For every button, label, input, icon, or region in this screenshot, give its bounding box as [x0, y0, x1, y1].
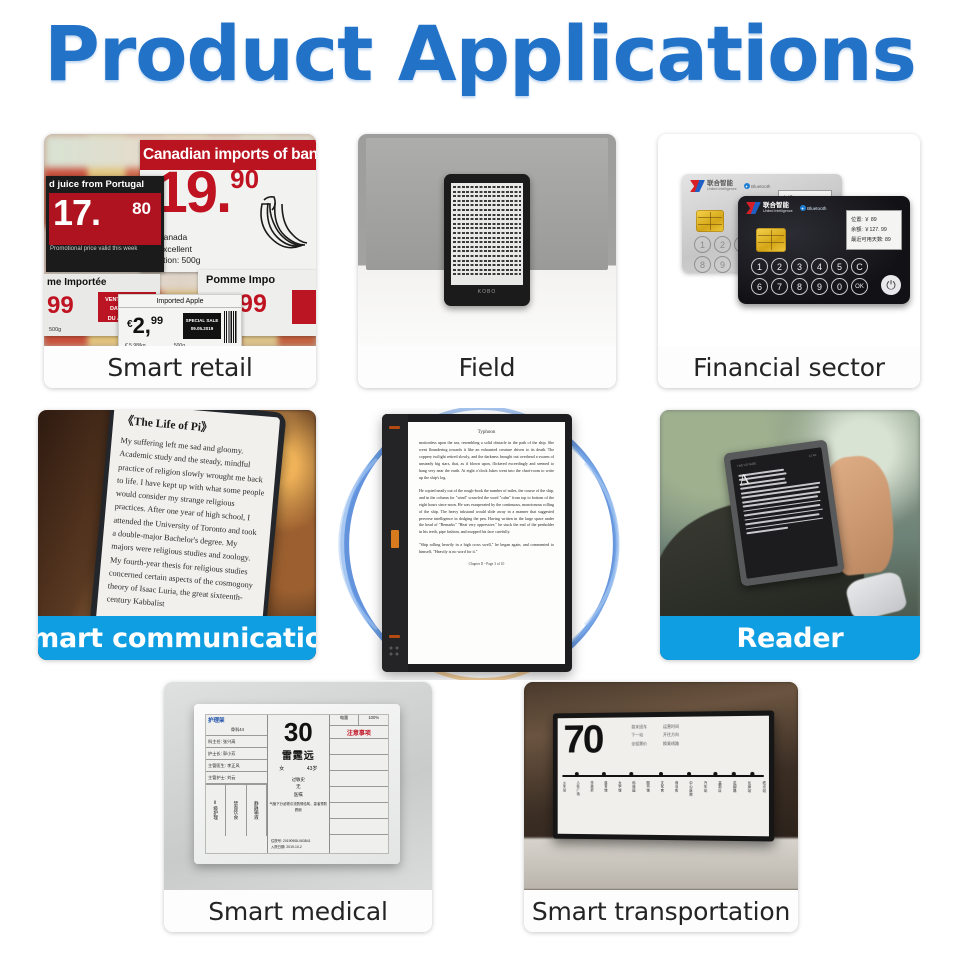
juice-tag-headline: d juice from Portugal	[46, 176, 164, 192]
card-field[interactable]: KOBO Field	[358, 134, 616, 388]
brand-logo-black: 联合智能 United Intelligence ✦ Bluetooth	[746, 202, 827, 214]
card-reader[interactable]: THE VOYAGE 12:40 A Reader	[660, 410, 920, 660]
card-center-tablet[interactable]: Typhoon motionless upon the sea, resembl…	[330, 408, 630, 680]
medical-right-column: 电量 100% 注意事项	[330, 715, 388, 853]
station-name: 汽车站	[702, 781, 706, 796]
sim-chip-icon-black	[756, 228, 786, 252]
banana-price-dec: 90	[230, 164, 259, 194]
med-field-director: 科主任: 张兴高	[206, 736, 267, 748]
station-name: 终点站	[761, 781, 765, 797]
med-label-orders: 医嘱	[268, 791, 329, 798]
key-9[interactable]: 9	[811, 278, 828, 295]
transit-screen: 70 首末班车 下一站 全程票价 运营时间 开往方向 换乘线路	[558, 716, 769, 837]
key-8[interactable]: 8	[791, 278, 808, 295]
page-paragraph-2: He copied neatly out of the rough-book t…	[419, 488, 554, 537]
black-display-line-1: 位置: ￥ 89	[851, 216, 897, 223]
ereader-device-field: KOBO	[444, 174, 530, 306]
card-smart-communication[interactable]: 《The Life of Pi》 My suffering left me sa…	[38, 410, 316, 660]
brand-logo-silver: 联合智能 United Intelligence ✦ Bluetooth	[690, 180, 771, 192]
phone-device: 《The Life of Pi》 My suffering left me sa…	[89, 410, 286, 642]
l7-logo-icon-black	[746, 202, 761, 214]
transit-info-1-3: 全程票价	[631, 740, 647, 748]
pomme-left-price: 99	[47, 294, 74, 318]
key-clear[interactable]: C	[851, 258, 868, 275]
station-name: 花园路	[732, 781, 736, 796]
transit-info-2-2: 开往方向	[663, 731, 679, 740]
page-paragraph-3: "Ship rolling heavily in a high cross sw…	[419, 542, 554, 556]
card-smart-transportation[interactable]: 70 首末班车 下一站 全程票价 运营时间 开往方向 换乘线路	[524, 682, 798, 932]
key-4[interactable]: 4	[811, 258, 828, 275]
key-1[interactable]: 1	[751, 258, 768, 275]
brand-name-silver: 联合智能 United Intelligence	[707, 180, 737, 191]
station-name: 图书馆	[645, 781, 649, 796]
bed-number: 30	[268, 719, 329, 745]
station-name: 中心医院	[688, 781, 692, 796]
key-5[interactable]: 5	[831, 258, 848, 275]
reader-status-time: 12:40	[809, 453, 817, 458]
price-tag-juice: d juice from Portugal 17. 80 Promotional…	[46, 176, 164, 272]
ereader-screen-field	[451, 183, 523, 285]
brand-sub-black: United Intelligence	[763, 210, 793, 214]
transit-info-blocks: 首末班车 下一站 全程票价 运营时间 开往方向 换乘线路	[631, 722, 762, 748]
keypad-black[interactable]: 1 2 3 4 5 C 6 7 8 9 0 OK	[751, 258, 868, 295]
transit-display-monitor: 70 首末班车 下一站 全程票价 运营时间 开往方向 换乘线路	[553, 710, 774, 841]
transit-info-col-1: 首末班车 下一站 全程票价	[631, 723, 647, 748]
station-name: 科技园	[631, 781, 635, 796]
desk-surface	[524, 838, 798, 890]
book-body-text: My suffering left me sad and gloomy. Aca…	[106, 434, 268, 619]
battery-label: 电量	[330, 715, 360, 725]
station-name: 体育馆	[603, 781, 607, 796]
juice-tag-price-block: 17. 80	[49, 193, 161, 245]
sim-chip-icon-silver	[696, 210, 724, 232]
medical-left-column: 骨科44 科主任: 张兴高 护士长: 郭小芳 主管医生: 李正风 主管护士: 刘…	[206, 715, 268, 853]
station-name: 长途站	[746, 781, 750, 796]
med-tab-care-level: Ⅱ级护理	[206, 785, 226, 836]
station-name: 文化宫	[659, 781, 663, 796]
bluetooth-icon-black: ✦	[800, 205, 806, 211]
bluetooth-badge-silver: ✦ Bluetooth	[744, 183, 771, 189]
card-label-reader: Reader	[660, 616, 920, 660]
card-label-smart-transportation: Smart transportation	[524, 890, 798, 932]
juice-price-int: 17.	[53, 195, 100, 231]
med-label-allergy-value: 无	[268, 783, 329, 790]
apple-esl-int: 2,	[133, 313, 151, 338]
juice-price-dec: 80	[132, 199, 151, 219]
key-7[interactable]: 7	[771, 278, 788, 295]
banana-icon	[250, 194, 310, 250]
apple-esl-price: €2,99	[127, 315, 163, 337]
route-number: 70	[563, 720, 602, 760]
tablet-device: Typhoon motionless upon the sea, resembl…	[382, 414, 572, 672]
tablet-accent-bottom	[389, 635, 400, 638]
station-name-list: 火车站 人民广场 市政府 体育馆 大学城 科技园 图书馆 文化宫 商业街 中心医…	[561, 781, 764, 797]
ereader-brand-label: KOBO	[451, 289, 523, 295]
key-silver-8[interactable]: 8	[694, 256, 711, 273]
key-silver-2[interactable]: 2	[714, 236, 731, 253]
pomme-right-title: Pomme Impo	[198, 270, 316, 286]
med-admission-date: 入院日期: 2019-10-2	[271, 845, 311, 851]
med-field-nurse: 主管护士: 刘云	[206, 772, 267, 784]
transit-info-2-3: 换乘线路	[663, 740, 679, 749]
transit-info-2-1: 运营时间	[663, 723, 679, 732]
page-title: Product Applications	[0, 16, 960, 92]
key-2[interactable]: 2	[771, 258, 788, 275]
ereader-device-reader: THE VOYAGE 12:40 A	[723, 439, 845, 586]
medical-footer: 住院号: 20190908-063841 入院日期: 2019-10-2	[271, 839, 311, 851]
bluetooth-label-black: Bluetooth	[807, 206, 826, 211]
tablet-side-bar	[382, 414, 408, 672]
smart-card-black: 联合智能 United Intelligence ✦ Bluetooth 位置:…	[738, 196, 910, 304]
card-media-smart-retail: Canadian imports of banan $19.90 n: Cana…	[44, 134, 316, 346]
transit-info-1-1: 首末班车	[631, 723, 647, 732]
med-field-dept: 骨科44	[206, 724, 267, 736]
esl-tag-imported-apple: Imported Apple €2,99 SPECIAL SALE 09.05.…	[118, 294, 242, 346]
battery-row: 电量 100%	[330, 715, 388, 726]
bedside-card-frame: 护理架 骨科44 科主任: 张兴高 护士长: 郭小芳 主管医生: 李正风 主管护…	[194, 704, 400, 864]
bluetooth-icon-silver: ✦	[744, 183, 750, 189]
apple-esl-title: Imported Apple	[119, 295, 241, 308]
pomme-right-badge	[292, 290, 316, 324]
power-icon[interactable]: ⏻	[881, 275, 901, 295]
card-label-smart-retail: Smart retail	[44, 346, 316, 388]
transit-info-col-2: 运营时间 开往方向 换乘线路	[663, 723, 679, 748]
price-tag-banana: Canadian imports of banan $19.90 n: Cana…	[140, 140, 316, 272]
notice-title: 注意事项	[330, 726, 388, 739]
battery-value: 100%	[359, 715, 388, 725]
apple-esl-badge: SPECIAL SALE 09.05.2019	[183, 313, 221, 339]
chapter-header: Typhoon	[419, 430, 554, 435]
card-media-financial: 联合智能 United Intelligence ✦ Bluetooth 余额:…	[658, 134, 920, 346]
med-note: 气管下分泌物引流酌情给氧，患者预防跌倒	[268, 802, 329, 814]
med-tab-diet: 禁食饮食	[226, 785, 246, 836]
juice-tag-footer: Promotional price valid this week	[46, 246, 164, 252]
medical-eink-screen: 护理架 骨科44 科主任: 张兴高 护士长: 郭小芳 主管医生: 李正风 主管护…	[205, 714, 389, 854]
pomme-left-title: me Importée	[44, 274, 160, 288]
reader-status-title: THE VOYAGE	[737, 461, 757, 468]
med-tab-iv: 静脉输液	[247, 785, 267, 836]
barcode-icon	[224, 311, 237, 343]
transit-info-1-2: 下一站	[631, 732, 647, 740]
apple-esl-dec: 99	[151, 315, 163, 327]
medical-vertical-tabs: Ⅱ级护理 禁食饮食 静脉输液	[206, 784, 267, 836]
patient-sex: 女	[279, 765, 284, 772]
medical-header: 护理架	[208, 716, 225, 724]
patient-age: 43岁	[307, 765, 318, 772]
med-label-allergy: 过敏史	[268, 776, 329, 783]
black-display-line-3: 最近可用天数: 89	[851, 236, 897, 243]
card-smart-retail[interactable]: Canadian imports of banan $19.90 n: Cana…	[44, 134, 316, 388]
station-name: 人民广场	[575, 781, 578, 796]
bluetooth-badge-black: ✦ Bluetooth	[800, 205, 827, 211]
station-name: 市政府	[589, 781, 593, 796]
bluetooth-label-silver: Bluetooth	[751, 184, 770, 189]
card-label-field: Field	[358, 346, 616, 388]
card-media-field: KOBO	[358, 134, 616, 346]
tablet-screen: Typhoon motionless upon the sea, resembl…	[408, 422, 565, 664]
key-6[interactable]: 6	[751, 278, 768, 295]
station-name: 商业街	[673, 781, 677, 796]
reader-status-bar: THE VOYAGE 12:40	[737, 453, 817, 468]
phone-screen: 《The Life of Pi》 My suffering left me sa…	[96, 410, 280, 635]
speaker-grill-icon	[388, 645, 401, 658]
key-ok[interactable]: OK	[851, 278, 868, 295]
tablet-accent-mid	[391, 530, 399, 548]
ereader-screen-dark: THE VOYAGE 12:40 A	[730, 447, 838, 579]
brand-name-black: 联合智能 United Intelligence	[763, 202, 793, 213]
card-financial-sector[interactable]: 联合智能 United Intelligence ✦ Bluetooth 余额:…	[658, 134, 920, 388]
l7-logo-icon	[690, 180, 705, 192]
pomme-left-weight: 500g	[49, 327, 61, 333]
card-media-smart-transportation: 70 首末班车 下一站 全程票价 运营时间 开往方向 换乘线路	[524, 682, 798, 890]
patient-demographics: 女 43岁	[268, 765, 329, 772]
medical-center-column: 30 雷霆远 女 43岁 过敏史 无 医嘱 气管下分泌物引流酌情给氧，患者预防跌…	[268, 715, 330, 853]
med-field-headnurse: 护士长: 郭小芳	[206, 748, 267, 760]
card-label-smart-medical: Smart medical	[164, 890, 432, 932]
card-smart-medical[interactable]: 护理架 骨科44 科主任: 张兴高 护士长: 郭小芳 主管医生: 李正风 主管护…	[164, 682, 432, 932]
med-field-doctor: 主管医生: 李正风	[206, 760, 267, 772]
card-label-smart-communication: Smart communication	[38, 616, 316, 660]
key-silver-9[interactable]: 9	[714, 256, 731, 273]
key-0[interactable]: 0	[831, 278, 848, 295]
brand-sub-silver: United Intelligence	[707, 188, 737, 192]
medical-mid-labels: 过敏史 无 医嘱	[268, 776, 329, 798]
page-footer: Chapter II - Page 3 of 10	[419, 562, 554, 566]
station-name: 高新区	[717, 781, 721, 796]
black-display-line-2: 余额: ￥127. 99	[851, 226, 897, 233]
station-name: 火车站	[561, 781, 564, 796]
page-paragraph-1: motionless upon the sea, resembling a so…	[419, 440, 554, 482]
drop-cap: A	[738, 473, 751, 488]
station-name: 大学城	[617, 781, 621, 796]
patient-name: 雷霆远	[268, 747, 329, 762]
tablet-accent-top	[389, 426, 400, 429]
card-media-smart-medical: 护理架 骨科44 科主任: 张兴高 护士长: 郭小芳 主管医生: 李正风 主管护…	[164, 682, 432, 890]
key-3[interactable]: 3	[791, 258, 808, 275]
key-silver-1[interactable]: 1	[694, 236, 711, 253]
eink-display-black: 位置: ￥ 89 余额: ￥127. 99 最近可用天数: 89	[846, 210, 902, 250]
banana-price-int: 19.	[155, 160, 230, 225]
card-label-financial-sector: Financial sector	[658, 346, 920, 388]
